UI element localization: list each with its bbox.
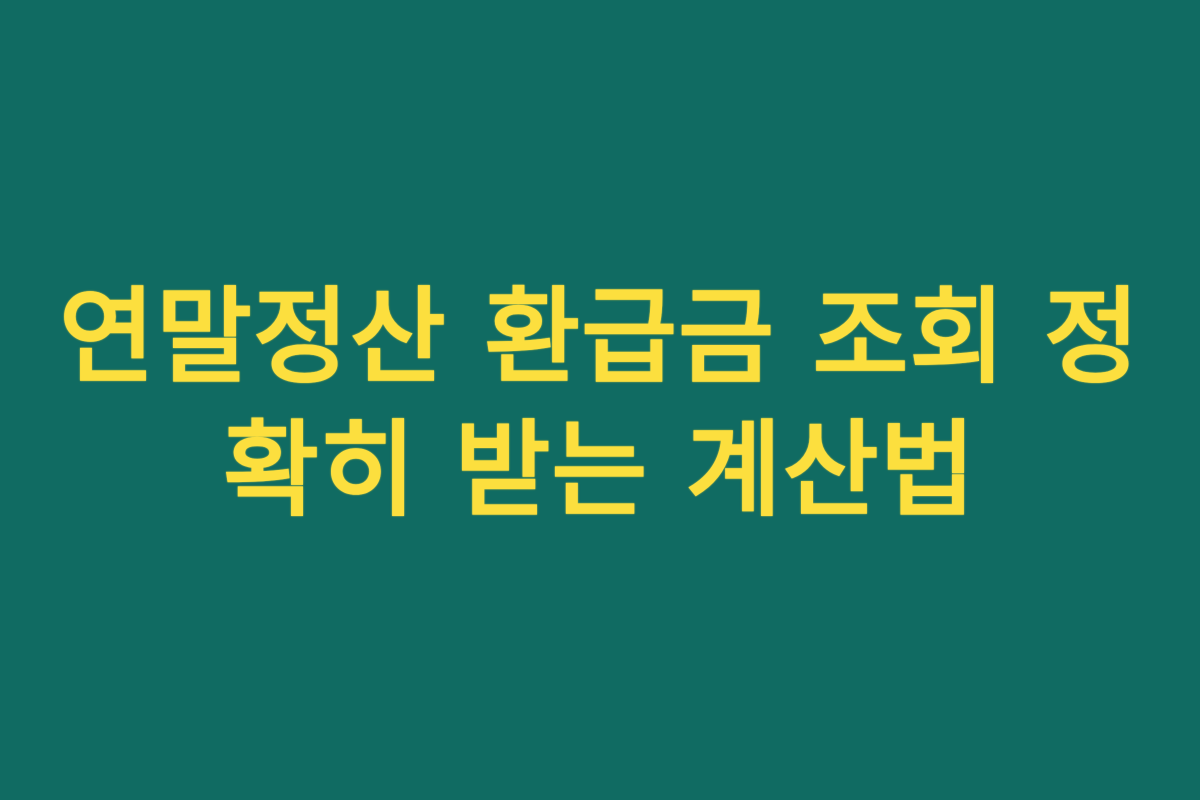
headline-line-1: 연말정산 환급금 조회 정 bbox=[59, 271, 1141, 404]
page-title: 연말정산 환급금 조회 정 확히 받는 계산법 bbox=[50, 271, 1150, 537]
headline-line-2: 확히 받는 계산법 bbox=[223, 404, 976, 537]
banner-canvas: 연말정산 환급금 조회 정 확히 받는 계산법 bbox=[0, 0, 1200, 800]
